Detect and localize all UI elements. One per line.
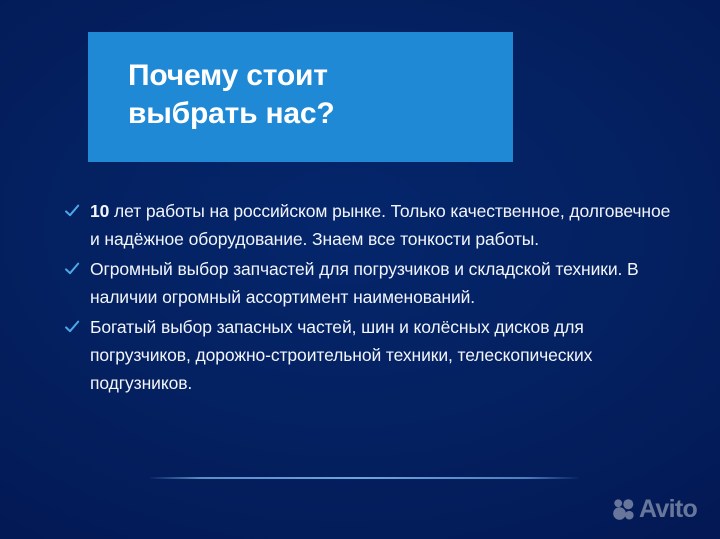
avito-dots-icon [612, 499, 636, 521]
list-item-text: Богатый выбор запасных частей, шин и кол… [90, 317, 592, 393]
list-item-body: лет работы на российском рынке. Только к… [90, 201, 670, 249]
title-card: Почему стоит выбрать нас? [88, 32, 513, 162]
slide-canvas: Почему стоит выбрать нас? 10 лет работы … [0, 0, 720, 539]
list-item-body: Огромный выбор запчастей для погрузчиков… [90, 259, 639, 307]
list-item-body: Богатый выбор запасных частей, шин и кол… [90, 317, 592, 393]
list-item: Огромный выбор запчастей для погрузчиков… [62, 255, 680, 311]
horizontal-divider [150, 477, 578, 479]
benefits-list: 10 лет работы на российском рынке. Тольк… [62, 197, 680, 399]
check-icon [64, 319, 80, 335]
page-title: Почему стоит выбрать нас? [128, 57, 499, 133]
slide-content: Почему стоит выбрать нас? 10 лет работы … [0, 0, 720, 539]
check-icon [64, 203, 80, 219]
list-item: 10 лет работы на российском рынке. Тольк… [62, 197, 680, 253]
check-icon [64, 261, 80, 277]
list-item-text: Огромный выбор запчастей для погрузчиков… [90, 259, 639, 307]
list-item: Богатый выбор запасных частей, шин и кол… [62, 313, 680, 397]
avito-watermark: Avito [612, 497, 697, 522]
avito-wordmark: Avito [639, 497, 697, 522]
list-item-text: 10 лет работы на российском рынке. Тольк… [90, 201, 670, 249]
list-item-lead: 10 [90, 201, 109, 221]
title-line-1: Почему стоит [128, 57, 499, 95]
title-line-2: выбрать нас? [128, 95, 499, 133]
